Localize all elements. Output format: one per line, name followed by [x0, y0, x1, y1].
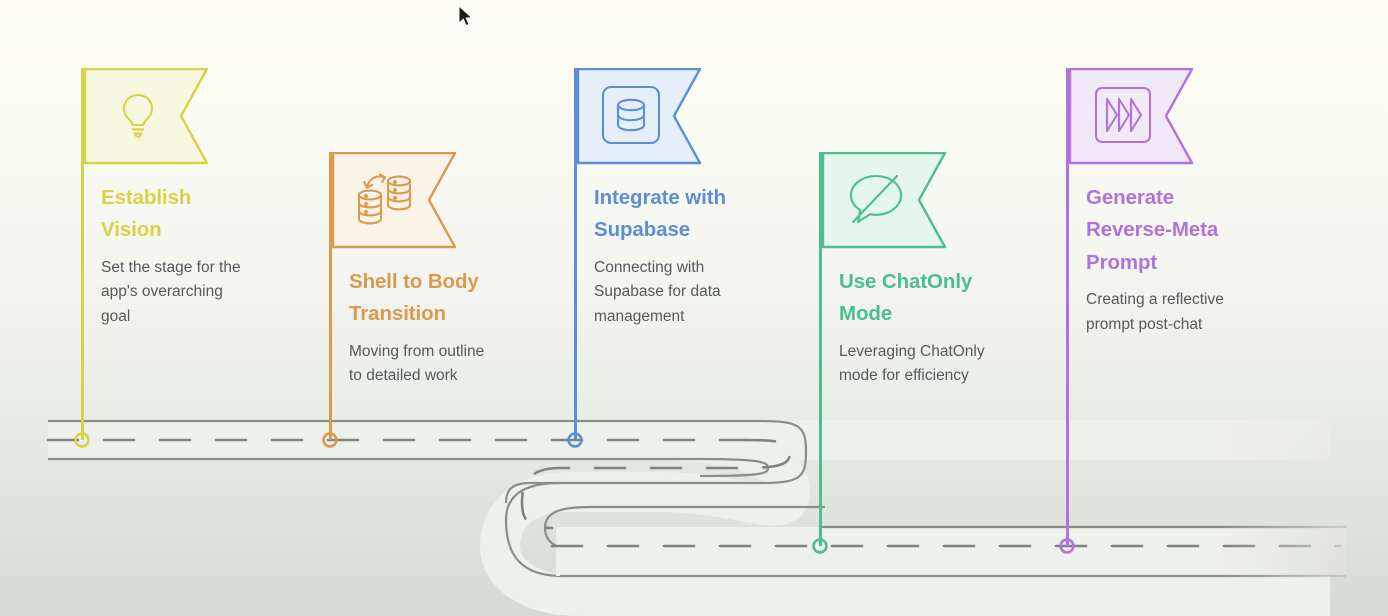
milestone-flag[interactable]	[332, 152, 458, 250]
milestone-road-marker[interactable]	[1057, 536, 1077, 556]
milestone-description: Connecting with Supabase for data manage…	[594, 256, 806, 329]
milestone-list: Establish VisionSet the stage for the ap…	[0, 0, 1388, 616]
milestone-title: Use ChatOnly Mode	[839, 266, 1051, 331]
lightbulb-icon-wrapper	[110, 87, 166, 143]
milestone-text: Generate Reverse-Meta PromptCreating a r…	[1086, 182, 1298, 337]
milestone-title: Establish Vision	[101, 182, 313, 247]
milestone-description: Set the stage for the app's overarching …	[101, 256, 313, 329]
milestone-flag[interactable]	[822, 152, 948, 250]
milestone-text: Establish VisionSet the stage for the ap…	[101, 182, 313, 329]
database-migration-icon-wrapper	[355, 173, 417, 225]
milestone-description: Moving from outline to detailed work	[349, 340, 561, 389]
milestone-road-marker[interactable]	[810, 536, 830, 556]
milestone-flag[interactable]	[577, 68, 703, 166]
chat-bubble-disabled-icon-wrapper	[845, 170, 907, 228]
milestone-description: Leveraging ChatOnly mode for efficiency	[839, 340, 1051, 389]
milestone-flag[interactable]	[84, 68, 210, 166]
milestone-text: Integrate with SupabaseConnecting with S…	[594, 182, 806, 329]
infographic-canvas: Establish VisionSet the stage for the ap…	[0, 0, 1388, 616]
triple-chevron-icon	[1093, 85, 1153, 145]
milestone-road-marker[interactable]	[565, 430, 585, 450]
milestone-road-marker[interactable]	[72, 430, 92, 450]
milestone-description: Creating a reflective prompt post-chat	[1086, 288, 1298, 337]
milestone-title: Generate Reverse-Meta Prompt	[1086, 182, 1298, 279]
milestone-title: Integrate with Supabase	[594, 182, 806, 247]
chat-bubble-disabled-icon	[845, 170, 907, 228]
lightbulb-icon	[110, 87, 166, 143]
milestone-text: Shell to Body TransitionMoving from outl…	[349, 266, 561, 389]
database-icon-wrapper	[600, 84, 662, 146]
milestone-text: Use ChatOnly ModeLeveraging ChatOnly mod…	[839, 266, 1051, 389]
database-icon	[600, 84, 662, 146]
triple-chevron-icon-wrapper	[1093, 85, 1153, 145]
milestone-road-marker[interactable]	[320, 430, 340, 450]
milestone-flag[interactable]	[1069, 68, 1195, 166]
milestone-title: Shell to Body Transition	[349, 266, 561, 331]
database-migration-icon	[355, 173, 417, 225]
